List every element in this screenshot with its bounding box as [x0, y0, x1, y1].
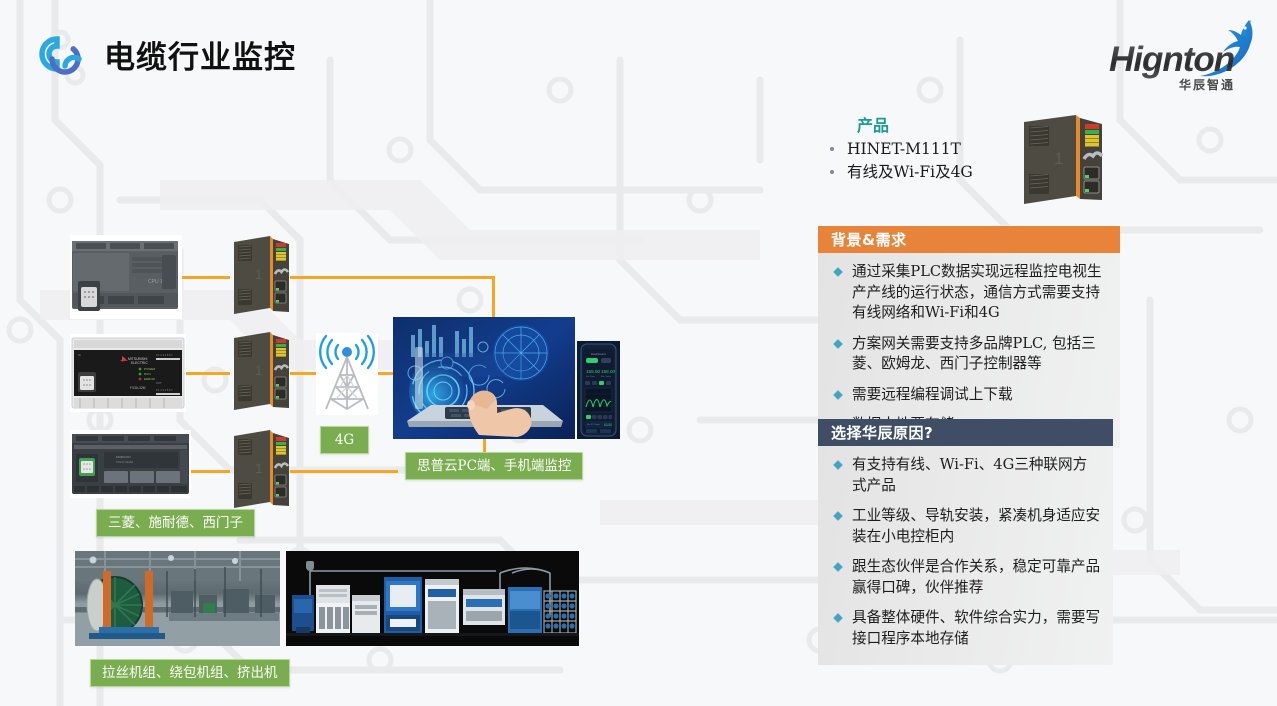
svg-text:0 1 2 3 4 5 6 7: 0 1 2 3 4 5 6 7 [156, 353, 173, 357]
cable-winding-machine-photo [75, 551, 280, 646]
panel-list-item: 跟生态伙伴是合作关系，稳定可靠产品赢得口碑，伙伴推荐 [822, 557, 1101, 598]
panel-list-item: 具备整体硬件、软件综合实力，需要写接口程序本地存储 [822, 608, 1101, 649]
svg-text:1: 1 [255, 266, 263, 282]
4g-cell-tower-icon [316, 333, 378, 415]
wire-plc2-gw2 [186, 372, 230, 375]
svg-text:158.00: 158.00 [601, 369, 615, 374]
mitsubishi-plc-device: MITSUBISHI ELECTRIC POWERRUNERROR 0 1 2 … [70, 334, 186, 412]
siemens-plc-device: CPU 1500 [70, 235, 182, 319]
panel-list-item: 需要远程编程调试上下载 [822, 385, 1108, 406]
hinet-gateway-device: 1 [230, 234, 292, 318]
svg-text:· · · · · · · · · · · · · · ·: · · · · · · · · · · · · · · · · · [106, 447, 130, 450]
panel-list-item: 方案网关需要支持多品牌PLC, 包括三菱、欧姆龙、西门子控制器等 [822, 334, 1108, 375]
svg-text:1: 1 [255, 460, 263, 476]
panel-list-item: 通过采集PLC数据实现远程监控电视生产产线的运行状态，通信方式需要支持有线网络和… [822, 262, 1108, 324]
svg-text:Dashboard: Dashboard [591, 352, 606, 356]
label-4g: 4G [320, 426, 369, 454]
svg-text:ERROR: ERROR [144, 377, 156, 381]
svg-text:IN: IN [78, 353, 81, 357]
label-machines: 拉丝机组、绕包机组、挤出机 [90, 659, 290, 687]
label-plc-brands: 三菱、施耐德、西门子 [96, 509, 255, 537]
wire-gw2-tower [290, 372, 318, 375]
panel-title: 背景&需求 [818, 226, 1120, 253]
panel-list-item: 有支持有线、Wi-Fi、4G三种联网方式产品 [822, 455, 1101, 496]
panel-body: 有支持有线、Wi-Fi、4G三种联网方式产品 工业等级、导轨安装，紧凑机身适应安… [818, 446, 1113, 665]
schneider-plc-device: · · · · · · · · · · · · · · · · · MODICO… [70, 430, 191, 498]
svg-text:0 1 2 3 4 5 6 7: 0 1 2 3 4 5 6 7 [156, 388, 173, 392]
hinet-gateway-device: 1 [230, 428, 292, 512]
panel-background-requirements: 背景&需求 通过采集PLC数据实现远程监控电视生产产线的运行状态，通信方式需要支… [818, 226, 1120, 448]
svg-text:POWER: POWER [144, 367, 156, 371]
brand-name-cn: 华辰智通 [1179, 76, 1235, 93]
svg-text:Set Point: Set Point [586, 375, 595, 378]
wire-plc3-gw3 [191, 470, 230, 473]
interlocking-circles-logo-icon [33, 32, 89, 86]
svg-text:63.50: 63.50 [604, 423, 612, 427]
svg-text:Set PV Value: Set PV Value [587, 423, 601, 426]
label-cloud-monitor: 思普云PC端、手机端监控 [405, 452, 583, 480]
wire-up-vertical [492, 276, 495, 322]
extrusion-line-photo [286, 551, 579, 646]
svg-text:MODICON: MODICON [116, 455, 131, 459]
svg-text:1: 1 [255, 362, 263, 378]
wire-gw3-right [290, 470, 398, 473]
svg-text:155.50: 155.50 [586, 369, 600, 374]
hinet-gateway-device: 1 [230, 330, 292, 414]
page-header: 电缆行业监控 Hignton 华辰智通 [0, 0, 1277, 110]
page-title: 电缆行业监控 [104, 36, 296, 80]
svg-text:FX3U-32M: FX3U-32M [130, 386, 146, 390]
svg-text:TM241 CE24R: TM241 CE24R [116, 460, 133, 464]
mobile-dashboard-photo: Dashboard 155.50158.00 Set PointRun Valu… [577, 341, 620, 439]
svg-text:1: 1 [1054, 149, 1063, 168]
product-device-image: 1 [1018, 112, 1106, 208]
brand-name: Hignton [1109, 40, 1234, 80]
wire-gw1-up [290, 276, 495, 279]
wire-plc1-gw1 [182, 276, 230, 279]
panel-list-item: 工业等级、导轨安装，紧凑机身适应安装在小电控柜内 [822, 506, 1101, 547]
panel-why-huachen: 选择华辰原因? 有支持有线、Wi-Fi、4G三种联网方式产品 工业等级、导轨安装… [818, 419, 1113, 665]
svg-text:ELECTRIC: ELECTRIC [131, 361, 148, 365]
svg-text:OUT: OUT [156, 381, 162, 385]
laptop-dashboard-photo [393, 317, 575, 439]
panel-title: 选择华辰原因? [818, 419, 1113, 446]
brand-logo: Hignton 华辰智通 [1113, 18, 1263, 96]
svg-text:Run Value: Run Value [601, 376, 612, 378]
svg-text:RUN: RUN [144, 372, 151, 376]
